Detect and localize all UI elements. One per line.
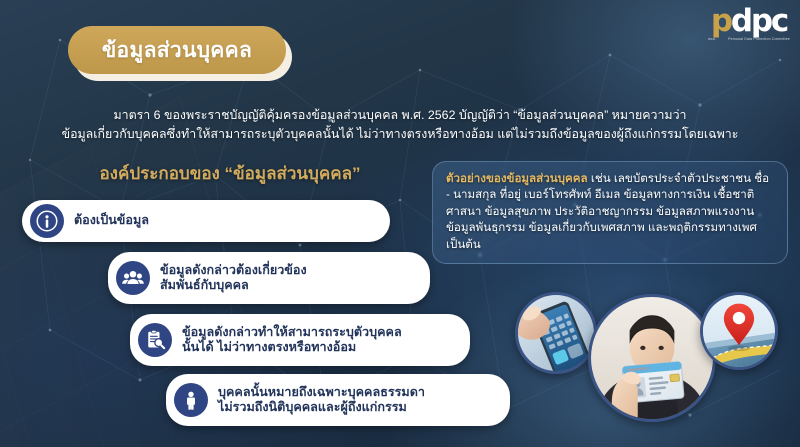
component-card-3: ข้อมูลดังกล่าวทำให้สามารถระบุตัวบุคคล นั… [130, 314, 470, 366]
component-card-3-line-2: นั้นได้ ไม่ว่าทางตรงหรือทางอ้อม [182, 340, 402, 356]
people-group-icon [116, 261, 150, 295]
component-card-1: ต้องเป็นข้อมูล [22, 200, 390, 242]
page-title: ข้อมูลส่วนบุคคล [102, 34, 252, 67]
component-card-4-line-2: ไม่รวมถึงนิติบุคคลและผู้ถึงแก่กรรม [218, 400, 425, 416]
information-icon [30, 204, 64, 238]
person-icon [174, 383, 208, 417]
component-card-3-label: ข้อมูลดังกล่าวทำให้สามารถระบุตัวบุคคล นั… [182, 325, 402, 356]
component-card-4: บุคคลนั้นหมายถึงเฉพาะบุคคลธรรมดา ไม่รวมถ… [166, 374, 510, 426]
examples-info-panel: ตัวอย่างของข้อมูลส่วนบุคคล เช่น เลขบัตรป… [432, 161, 788, 264]
component-card-1-label: ต้องเป็นข้อมูล [74, 213, 149, 229]
component-card-2-line-2: สัมพันธ์กับบุคคล [160, 278, 307, 294]
component-card-1-line-1: ต้องเป็นข้อมูล [74, 213, 149, 227]
logo-subtitle-thai: สคส. [708, 38, 716, 41]
intro-line-2: ข้อมูลเกี่ยวกับบุคคลซึ่งทำให้สามารถระบุต… [18, 125, 782, 144]
components-heading: องค์ประกอบของ “ข้อมูลส่วนบุคคล” [30, 160, 430, 187]
logo-letter-p: p [711, 3, 731, 39]
person-holding-id-card-photo [588, 294, 716, 422]
component-card-2-line-1: ข้อมูลดังกล่าวต้องเกี่ยวข้อง [160, 263, 307, 279]
map-location-pin-photo [700, 292, 778, 370]
intro-paragraph: มาตรา 6 ของพระราชบัญญัติคุ้มครองข้อมูลส่… [0, 106, 800, 144]
title-badge: ข้อมูลส่วนบุคคล [68, 26, 286, 74]
logo-wordmark: pdpc [708, 6, 790, 37]
component-card-4-label: บุคคลนั้นหมายถึงเฉพาะบุคคลธรรมดา ไม่รวมถ… [218, 385, 425, 416]
logo-letters-dpc: dpc [731, 3, 787, 39]
title-badge-pill: ข้อมูลส่วนบุคคล [68, 26, 286, 74]
document-search-icon [138, 323, 172, 357]
smartphone-photo [515, 292, 597, 374]
component-card-3-line-1: ข้อมูลดังกล่าวทำให้สามารถระบุตัวบุคคล [182, 325, 402, 341]
examples-text: ตัวอย่างของข้อมูลส่วนบุคคล เช่น เลขบัตรป… [446, 171, 776, 253]
logo-subtitle-english: Personal Data Protection Committee [728, 38, 790, 41]
infographic-poster: pdpc สคส. Personal Data Protection Commi… [0, 0, 800, 447]
component-card-4-line-1: บุคคลนั้นหมายถึงเฉพาะบุคคลธรรมดา [218, 385, 425, 401]
pdpc-logo: pdpc สคส. Personal Data Protection Commi… [708, 6, 790, 41]
examples-lead: ตัวอย่างของข้อมูลส่วนบุคคล [446, 172, 588, 185]
component-card-2-label: ข้อมูลดังกล่าวต้องเกี่ยวข้อง สัมพันธ์กับ… [160, 263, 307, 294]
component-card-2: ข้อมูลดังกล่าวต้องเกี่ยวข้อง สัมพันธ์กับ… [108, 252, 430, 304]
intro-line-1: มาตรา 6 ของพระราชบัญญัติคุ้มครองข้อมูลส่… [18, 106, 782, 125]
